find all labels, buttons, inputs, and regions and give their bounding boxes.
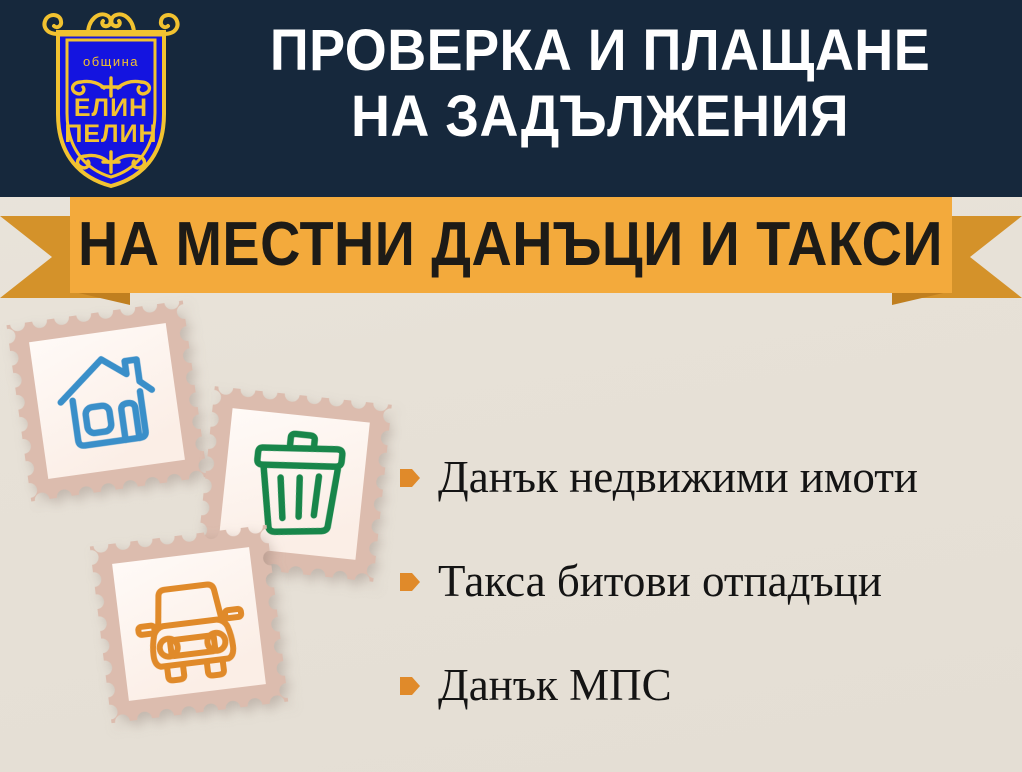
list-item[interactable]: Данък недвижими имоти (400, 425, 1010, 529)
list-item-label: Такса битови отпадъци (438, 557, 882, 605)
logo-name-line1: ЕЛИН (74, 94, 148, 122)
logo-name-line2: ПЕЛИН (64, 120, 157, 148)
ribbon-label: НА МЕСТНИ ДАНЪЦИ И ТАКСИ (79, 214, 944, 276)
list-item[interactable]: Такса битови отпадъци (400, 529, 1010, 633)
tax-type-list: Данък недвижими имоти Такса битови отпад… (400, 425, 1010, 737)
poster-title: ПРОВЕРКА И ПЛАЩАНЕ НА ЗАДЪЛЖЕНИЯ (190, 18, 1010, 150)
title-line-1: ПРОВЕРКА И ПЛАЩАНЕ (219, 18, 982, 84)
title-line-2: НА ЗАДЪЛЖЕНИЯ (219, 84, 982, 150)
subtitle-ribbon: НА МЕСТНИ ДАНЪЦИ И ТАКСИ (0, 197, 1022, 307)
stamp-card-vehicle (90, 525, 288, 723)
arrow-bullet-icon (400, 570, 420, 594)
arrow-bullet-icon (400, 674, 420, 698)
logo-obshtina-text: община (83, 54, 139, 69)
poster-canvas: община ЕЛИН ПЕЛИН (0, 0, 1022, 772)
ribbon-band: НА МЕСТНИ ДАНЪЦИ И ТАКСИ (70, 197, 952, 293)
list-item[interactable]: Данък МПС (400, 633, 1010, 737)
municipality-logo: община ЕЛИН ПЕЛИН (40, 6, 182, 191)
list-item-label: Данък недвижими имоти (438, 453, 918, 501)
stamp-card-property (6, 300, 207, 501)
header-banner: община ЕЛИН ПЕЛИН (0, 0, 1022, 197)
list-item-label: Данък МПС (438, 661, 672, 709)
arrow-bullet-icon (400, 466, 420, 490)
